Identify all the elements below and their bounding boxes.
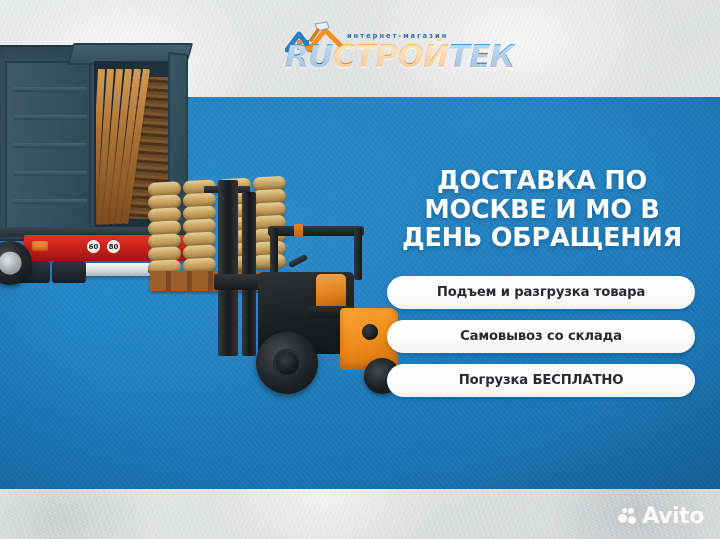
- container-rib: [13, 87, 87, 92]
- forklift-mirror: [294, 224, 303, 238]
- forklift-fuel-cap: [362, 324, 378, 340]
- poster-canvas: интернет-магазин RUСТРОЙТЕК: [0, 0, 720, 539]
- avito-watermark: Avito: [618, 506, 704, 528]
- container-rib: [13, 171, 87, 176]
- avito-dots-icon: [618, 508, 637, 526]
- avito-wordmark: Avito: [642, 506, 704, 528]
- wheel-rim: [273, 349, 302, 378]
- feature-list: Подъем и разгрузка товара Самовывоз со с…: [387, 276, 695, 397]
- forklift-overhead-guard: [268, 226, 364, 236]
- forklift-steering-wheel: [288, 254, 308, 269]
- feature-pill-free-loading[interactable]: Погрузка БЕСПЛАТНО: [387, 364, 695, 397]
- speed-limit-disc-80: 80: [106, 239, 121, 254]
- speed-limit-disc-60: 60: [86, 239, 101, 254]
- container-rib: [13, 115, 87, 120]
- headline-line-3: ДЕНЬ ОБРАЩЕНИЯ: [386, 224, 698, 253]
- forklift-roof-post: [354, 228, 362, 280]
- page-title: ДОСТАВКА ПО МОСКВЕ И МО В ДЕНЬ ОБРАЩЕНИЯ: [386, 167, 698, 253]
- rear-marker-lamp: [32, 241, 48, 251]
- forklift-front-wheel: [256, 332, 318, 394]
- forklift-mast: [218, 180, 238, 356]
- delivery-illustration: 60 80: [0, 0, 720, 539]
- container-rib: [13, 143, 87, 148]
- container-door: [5, 61, 91, 229]
- feature-pill-pickup[interactable]: Самовывоз со склада: [387, 320, 695, 353]
- container-rib: [13, 199, 87, 204]
- forklift-seat: [316, 274, 346, 308]
- wheel-hub: [0, 252, 21, 275]
- headline-line-2: МОСКВЕ И МО В: [386, 196, 698, 225]
- headline-line-1: ДОСТАВКА ПО: [386, 167, 698, 196]
- feature-pill-loading-unloading[interactable]: Подъем и разгрузка товара: [387, 276, 695, 309]
- truck-axle-block: [52, 261, 86, 283]
